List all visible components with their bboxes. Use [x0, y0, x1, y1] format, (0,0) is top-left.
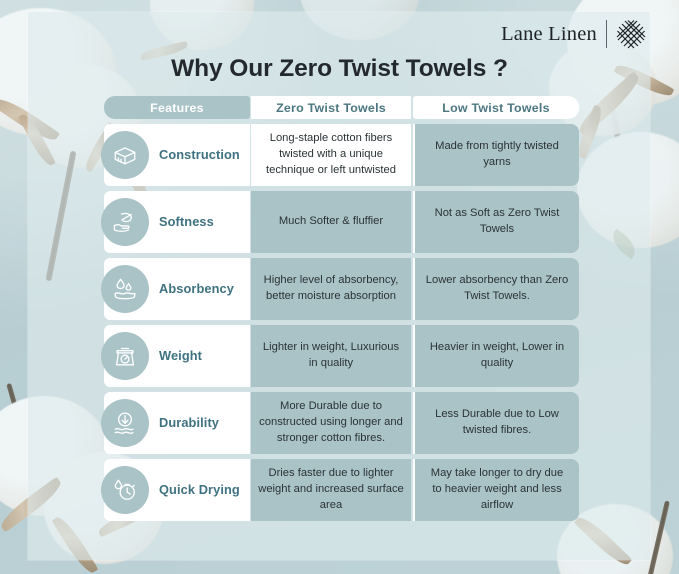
low-twist-cell: Not as Soft as Zero Twist Towels	[413, 191, 579, 253]
low-twist-cell: May take longer to dry due to heavier we…	[413, 459, 579, 521]
feature-cell: Absorbency	[104, 258, 250, 320]
table-row: Construction Long-staple cotton fibers t…	[104, 124, 579, 186]
column-header-zero-twist: Zero Twist Towels	[251, 96, 411, 119]
feature-label: Softness	[159, 215, 220, 229]
zero-twist-cell: Much Softer & fluffier	[251, 191, 411, 253]
feature-label: Weight	[159, 349, 208, 363]
weighing-scale-icon	[101, 332, 149, 380]
low-twist-cell: Heavier in weight, Lower in quality	[413, 325, 579, 387]
folded-towel-icon	[101, 131, 149, 179]
table-header-row: Features Zero Twist Towels Low Twist Tow…	[104, 96, 579, 119]
feature-cell: Softness	[104, 191, 250, 253]
zero-twist-cell: Long-staple cotton fibers twisted with a…	[251, 124, 411, 186]
zero-twist-cell: Lighter in weight, Luxurious in quality	[251, 325, 411, 387]
feature-cell: Durability	[104, 392, 250, 454]
stopwatch-droplet-icon	[101, 466, 149, 514]
feature-label: Durability	[159, 416, 225, 430]
comparison-table: Features Zero Twist Towels Low Twist Tow…	[104, 96, 579, 526]
column-header-low-twist: Low Twist Towels	[413, 96, 579, 119]
brand-logo: Lane Linen	[501, 17, 646, 51]
zero-twist-cell: Dries faster due to lighter weight and i…	[251, 459, 411, 521]
low-twist-cell: Lower absorbency than Zero Twist Towels.	[413, 258, 579, 320]
zero-twist-cell: More Durable due to constructed using lo…	[251, 392, 411, 454]
table-row: Absorbency Higher level of absorbency, b…	[104, 258, 579, 320]
hand-feather-icon	[101, 198, 149, 246]
down-arrow-waves-icon	[101, 399, 149, 447]
table-row: Quick Drying Dries faster due to lighter…	[104, 459, 579, 521]
page-title: Why Our Zero Twist Towels ?	[0, 55, 679, 83]
low-twist-cell: Made from tightly twisted yarns	[413, 124, 579, 186]
feature-cell: Construction	[104, 124, 250, 186]
low-twist-cell: Less Durable due to Low twisted fibres.	[413, 392, 579, 454]
zero-twist-cell: Higher level of absorbency, better moist…	[251, 258, 411, 320]
water-droplets-icon	[101, 265, 149, 313]
feature-cell: Quick Drying	[104, 459, 250, 521]
feature-label: Quick Drying	[159, 483, 246, 497]
feature-label: Absorbency	[159, 282, 240, 296]
woven-lattice-icon	[616, 19, 646, 49]
table-row: Weight Lighter in weight, Luxurious in q…	[104, 325, 579, 387]
feature-label: Construction	[159, 148, 246, 162]
table-row: Durability More Durable due to construct…	[104, 392, 579, 454]
table-row: Softness Much Softer & fluffier Not as S…	[104, 191, 579, 253]
brand-divider	[606, 20, 607, 48]
column-header-features: Features	[104, 96, 250, 119]
infographic-canvas: Lane Linen Why Our Zero Twist Towels	[0, 0, 679, 574]
feature-cell: Weight	[104, 325, 250, 387]
brand-name: Lane Linen	[501, 23, 597, 46]
